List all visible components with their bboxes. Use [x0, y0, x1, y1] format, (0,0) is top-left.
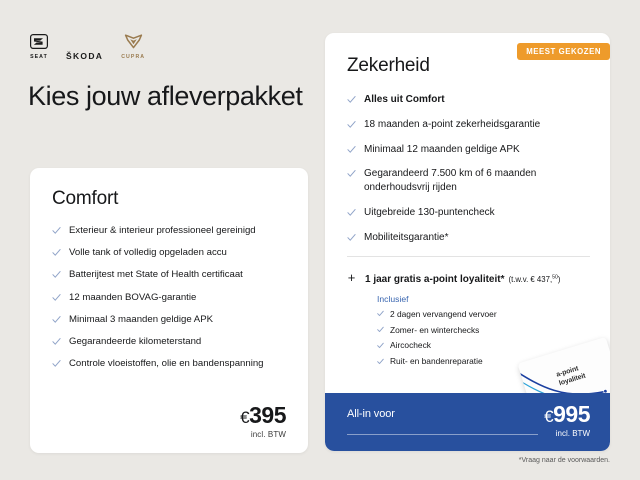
- feature-text: Batterijtest met State of Health certifi…: [69, 268, 243, 281]
- package-card-zekerheid[interactable]: MEEST GEKOZEN Zekerheid Alles uit Comfor…: [325, 33, 610, 451]
- list-item: Minimaal 3 maanden geldige APK: [52, 313, 286, 326]
- zekerheid-price-note: incl. BTW: [544, 429, 590, 438]
- zekerheid-price-block: €995 incl. BTW: [544, 403, 590, 438]
- included-text: 2 dagen vervangend vervoer: [390, 309, 497, 320]
- loyalty-value: (t.w.v. € 437,50): [508, 275, 560, 284]
- check-icon: [52, 293, 61, 302]
- feature-text: Volle tank of volledig opgeladen accu: [69, 246, 227, 259]
- loyalty-row: + 1 jaar gratis a-point loyaliteit*(t.w.…: [347, 271, 590, 285]
- brand-skoda: ŠKODA: [66, 52, 103, 61]
- list-item: Batterijtest met State of Health certifi…: [52, 268, 286, 281]
- section-divider: [347, 256, 590, 257]
- check-icon: [347, 169, 356, 178]
- check-icon: [377, 310, 384, 317]
- seat-logo-icon: [30, 34, 48, 54]
- list-item: 12 maanden BOVAG-garantie: [52, 291, 286, 304]
- loyalty-value-prefix: (t.w.v. € 437,: [508, 275, 552, 284]
- feature-text: Exterieur & interieur professioneel gere…: [69, 224, 256, 237]
- list-item: Aircocheck: [377, 340, 590, 351]
- feature-text: Mobiliteitsgarantie*: [364, 231, 449, 245]
- feature-text: Alles uit Comfort: [364, 93, 445, 107]
- feature-text: Minimaal 3 maanden geldige APK: [69, 313, 213, 326]
- page-title: Kies jouw afleverpakket: [28, 80, 302, 113]
- feature-text: Gegarandeerde kilometerstand: [69, 335, 201, 348]
- check-icon: [52, 248, 61, 257]
- check-icon: [52, 337, 61, 346]
- currency-symbol: €: [240, 408, 249, 427]
- list-item: 2 dagen vervangend vervoer: [377, 309, 590, 320]
- cupra-wordmark: CUPRA: [121, 55, 145, 60]
- list-item: Minimaal 12 maanden geldige APK: [347, 143, 590, 157]
- zekerheid-price-footer: All-in voor €995 incl. BTW: [325, 393, 610, 451]
- skoda-wordmark: ŠKODA: [66, 52, 103, 61]
- feature-text: Uitgebreide 130-puntencheck: [364, 206, 495, 220]
- loyalty-value-suffix: ): [558, 275, 561, 284]
- check-icon: [347, 120, 356, 129]
- check-icon: [52, 270, 61, 279]
- included-text: Aircocheck: [390, 340, 431, 351]
- comfort-feature-list: Exterieur & interieur professioneel gere…: [52, 224, 286, 371]
- check-icon: [377, 358, 384, 365]
- check-icon: [377, 326, 384, 333]
- check-icon: [52, 315, 61, 324]
- list-item: Volle tank of volledig opgeladen accu: [52, 246, 286, 259]
- check-icon: [347, 95, 356, 104]
- list-item: Controle vloeistoffen, olie en bandenspa…: [52, 357, 286, 370]
- check-icon: [52, 359, 61, 368]
- currency-symbol: €: [544, 407, 553, 426]
- list-item: Gegarandeerd 7.500 km of 6 maanden onder…: [347, 167, 590, 195]
- status-badge-most-chosen: MEEST GEKOZEN: [517, 43, 610, 60]
- feature-text: Controle vloeistoffen, olie en bandenspa…: [69, 357, 264, 370]
- check-icon: [377, 342, 384, 349]
- list-item: Exterieur & interieur professioneel gere…: [52, 224, 286, 237]
- feature-text: Gegarandeerd 7.500 km of 6 maanden onder…: [364, 167, 590, 195]
- price-amount: 995: [553, 401, 590, 427]
- zekerheid-price: €995: [544, 403, 590, 426]
- package-card-comfort[interactable]: Comfort Exterieur & interieur profession…: [30, 168, 308, 453]
- list-item: 18 maanden a-point zekerheidsgarantie: [347, 118, 590, 132]
- list-item: Uitgebreide 130-puntencheck: [347, 206, 590, 220]
- loyalty-label: 1 jaar gratis a-point loyaliteit*: [365, 274, 504, 285]
- feature-text: Minimaal 12 maanden geldige APK: [364, 143, 520, 157]
- check-icon: [347, 145, 356, 154]
- cupra-logo-icon: [124, 34, 143, 54]
- comfort-price-block: €395 incl. BTW: [240, 404, 286, 439]
- feature-text: 18 maanden a-point zekerheidsgarantie: [364, 118, 540, 132]
- zekerheid-feature-list: Alles uit Comfort 18 maanden a-point zek…: [347, 93, 590, 245]
- comfort-title: Comfort: [52, 188, 286, 210]
- seat-wordmark: SEAT: [30, 55, 48, 60]
- check-icon: [347, 208, 356, 217]
- comfort-price: €395: [240, 404, 286, 427]
- list-item: Gegarandeerde kilometerstand: [52, 335, 286, 348]
- list-item: Mobiliteitsgarantie*: [347, 231, 590, 245]
- included-text: Zomer- en winterchecks: [390, 325, 479, 336]
- check-icon: [347, 233, 356, 242]
- included-text: Ruit- en bandenreparatie: [390, 356, 483, 367]
- check-icon: [52, 226, 61, 235]
- brand-logo-row: SEAT ŠKODA CUPRA: [30, 34, 145, 60]
- list-item: Alles uit Comfort: [347, 93, 590, 107]
- comfort-price-note: incl. BTW: [240, 430, 286, 439]
- price-amount: 395: [249, 402, 286, 428]
- promo-page: SEAT ŠKODA CUPRA Kies jouw afleverpakket…: [0, 0, 640, 480]
- footnote: *Vraag naar de voorwaarden.: [519, 457, 610, 464]
- footer-rule: [347, 434, 538, 435]
- included-title: Inclusief: [377, 294, 590, 304]
- plus-icon: +: [347, 271, 356, 284]
- list-item: Zomer- en winterchecks: [377, 325, 590, 336]
- brand-seat: SEAT: [30, 34, 48, 60]
- brand-cupra: CUPRA: [121, 34, 145, 60]
- feature-text: 12 maanden BOVAG-garantie: [69, 291, 196, 304]
